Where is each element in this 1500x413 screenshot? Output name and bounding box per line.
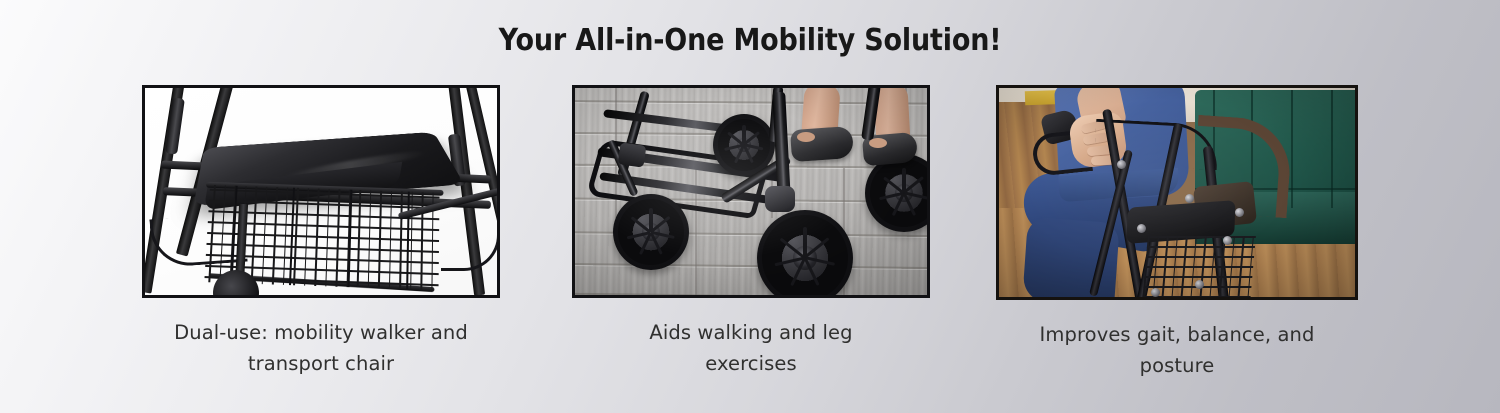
feature-caption-dual-use: Dual-use: mobility walker and transport … — [142, 317, 500, 379]
feature-image-frame-aids-walking — [572, 85, 930, 298]
caption-line-2: transport chair — [142, 348, 500, 379]
feature-caption-improves-gait: Improves gait, balance, and posture — [996, 319, 1358, 381]
feature-caption-aids-walking: Aids walking and leg exercises — [572, 317, 930, 379]
promo-banner: Your All-in-One Mobility Solution! — [0, 0, 1500, 413]
feature-column-aids-walking: Aids walking and leg exercises — [572, 85, 930, 379]
user-gripping-rollator-photo — [999, 88, 1355, 297]
page-title: Your All-in-One Mobility Solution! — [75, 22, 1425, 60]
feature-image-frame-dual-use — [142, 85, 500, 298]
caption-line-2: exercises — [572, 348, 930, 379]
feature-column-improves-gait: Improves gait, balance, and posture — [996, 85, 1358, 381]
feature-image-frame-improves-gait — [996, 85, 1358, 300]
caption-line-1: Dual-use: mobility walker and — [142, 317, 500, 348]
foot-toe — [869, 138, 887, 148]
caption-line-1: Improves gait, balance, and — [996, 319, 1358, 350]
caption-line-1: Aids walking and leg — [572, 317, 930, 348]
rollator-wheels-photo — [575, 88, 927, 295]
walker-seat-photo — [145, 88, 497, 295]
photo-vignette — [999, 88, 1355, 297]
foot-toe — [797, 132, 815, 142]
feature-column-dual-use: Dual-use: mobility walker and transport … — [142, 85, 500, 379]
photo-vignette — [575, 88, 927, 295]
caption-line-2: posture — [996, 350, 1358, 381]
